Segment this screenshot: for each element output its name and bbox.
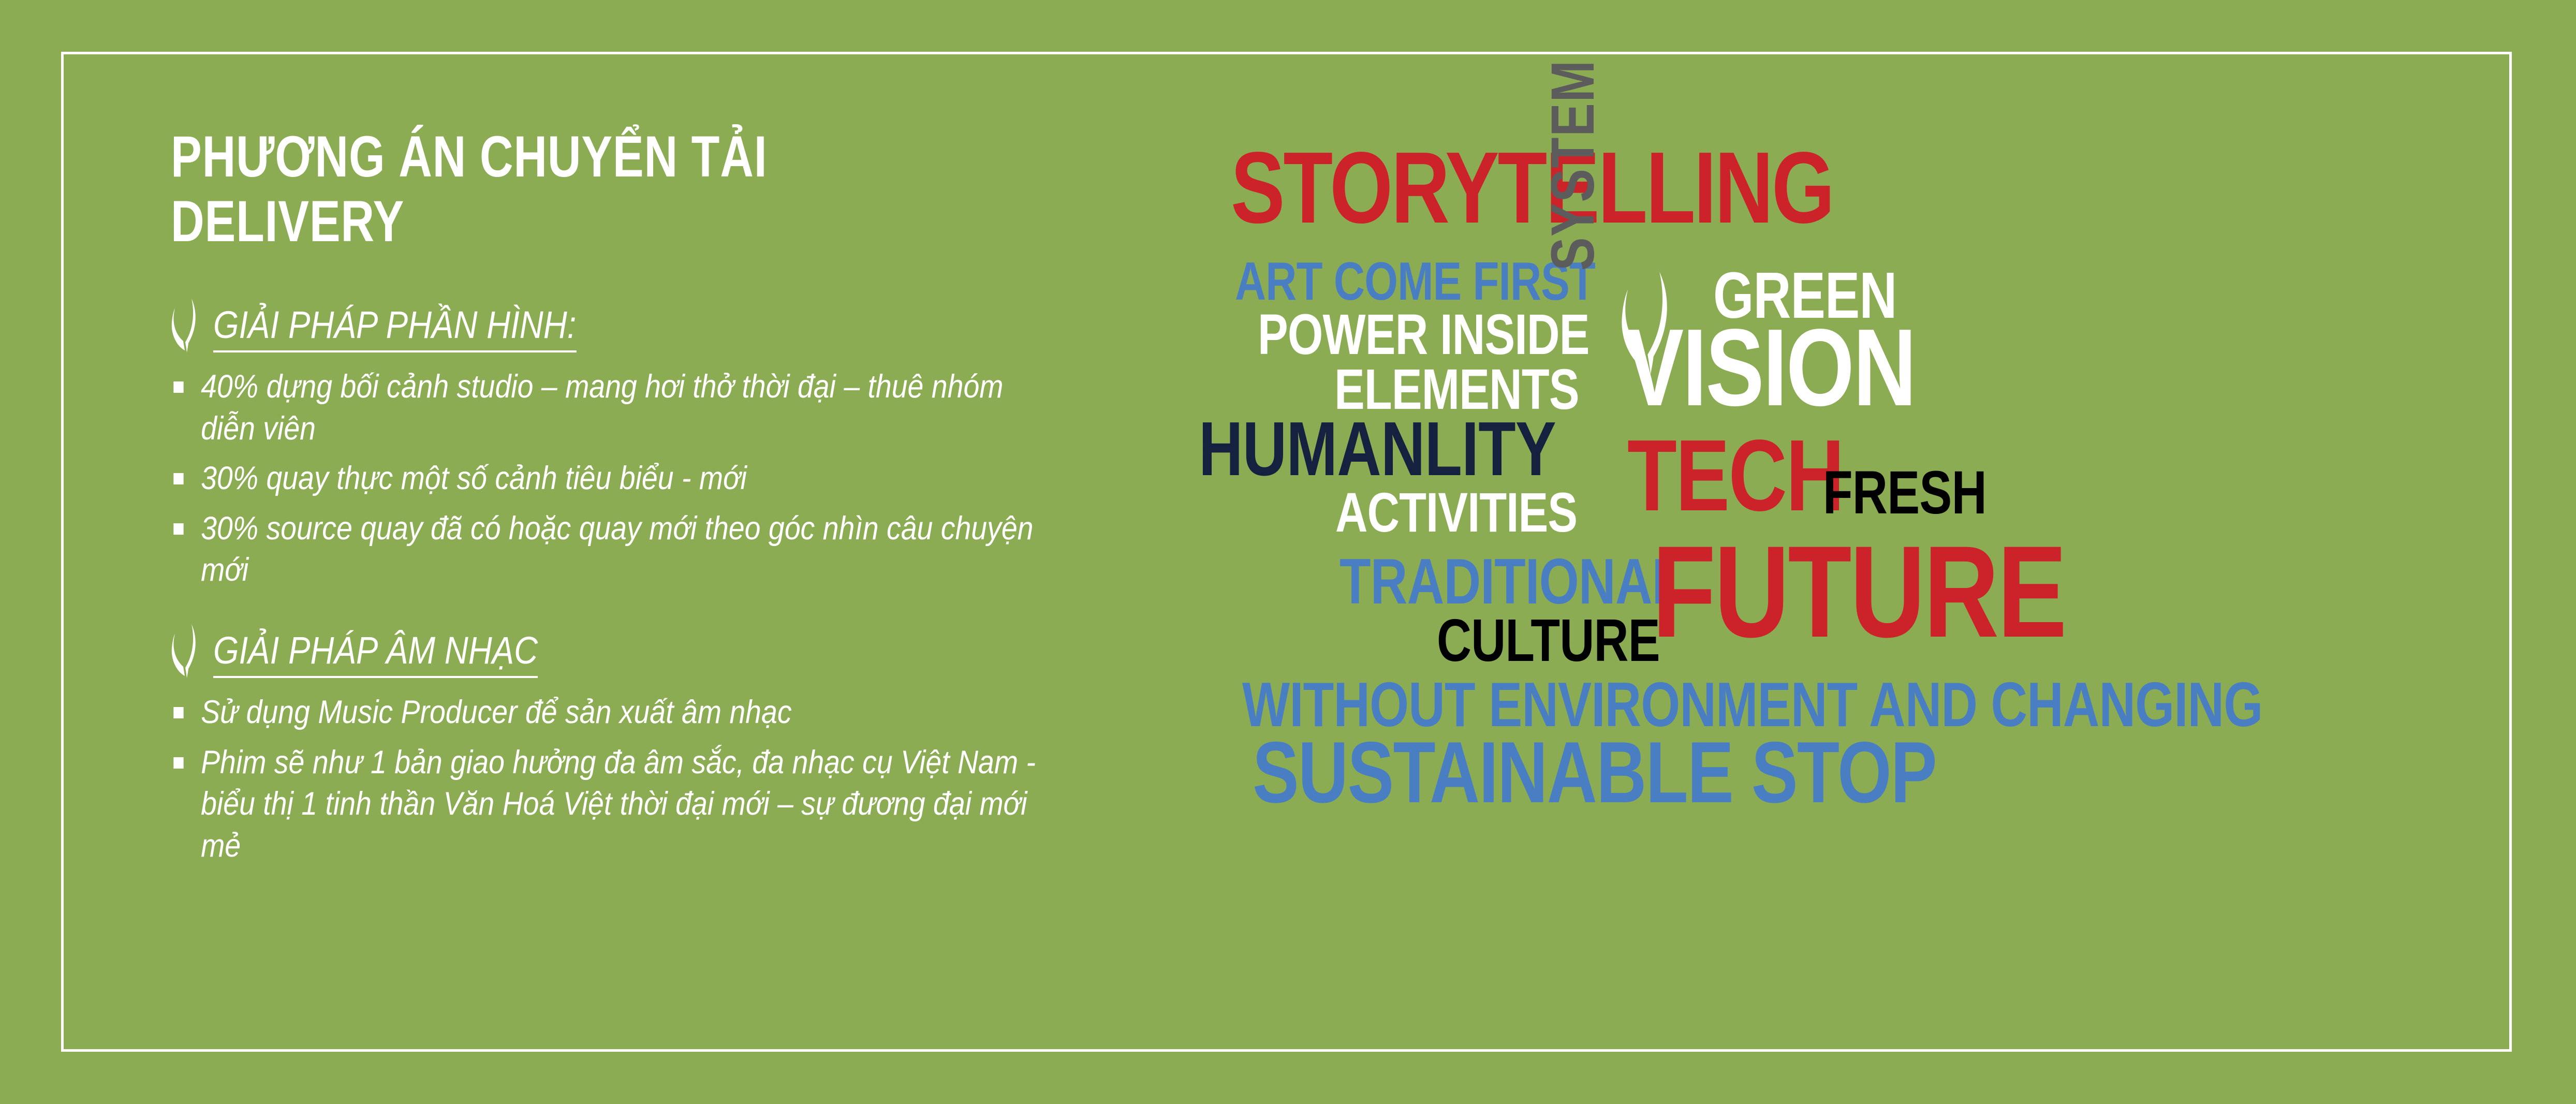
word-cloud-item-traditional: TRADITIONAL (1339, 556, 1683, 608)
list-item: 30% source quay đã có hoặc quay mới theo… (171, 508, 1059, 591)
word-cloud-item-humanlity: HUMANLITY (1199, 419, 1556, 480)
list-item: 40% dựng bối cảnh studio – mang hơi thở … (171, 366, 1059, 449)
leaf-sprout-icon (1620, 264, 1681, 381)
list-item: Phim sẽ như 1 bản giao hưởng đa âm sắc, … (171, 742, 1059, 867)
bullet-list-phan-hinh: 40% dựng bối cảnh studio – mang hơi thở … (171, 366, 1180, 591)
word-cloud-item-elements: ELEMENTS (1334, 367, 1579, 413)
bullet-list-am-nhac: Sử dụng Music Producer để sản xuất âm nh… (171, 691, 1180, 867)
section-heading-label: GIẢI PHÁP ÂM NHẠC (213, 631, 538, 678)
word-cloud: STORYTELLING ART COME FIRST POWER INSIDE… (1185, 148, 2438, 888)
word-cloud-item-tech: TECH (1627, 435, 1843, 517)
section-giai-phap-phan-hinh: GIẢI PHÁP PHẦN HÌNH: 40% dựng bối cảnh s… (171, 299, 1180, 591)
word-cloud-item-future: FUTURE (1652, 540, 2065, 644)
page-title: PHƯƠNG ÁN CHUYỂN TẢI DELIVERY (171, 124, 978, 254)
section-heading-row: GIẢI PHÁP PHẦN HÌNH: (171, 299, 1180, 352)
word-cloud-item-activities: ACTIVITIES (1335, 490, 1577, 535)
list-item: 30% quay thực một số cảnh tiêu biểu - mớ… (171, 458, 1059, 499)
section-heading-label: GIẢI PHÁP PHẦN HÌNH: (213, 306, 576, 352)
section-heading-row: GIẢI PHÁP ÂM NHẠC (171, 624, 1180, 678)
word-cloud-item-system: SYSTEM (1549, 60, 1597, 271)
word-cloud-item-storytelling: STORYTELLING (1231, 148, 1833, 229)
leaf-sprout-icon (171, 299, 203, 352)
left-content-column: PHƯƠNG ÁN CHUYỂN TẢI DELIVERY GIẢI PHÁP … (171, 124, 1180, 900)
list-item: Sử dụng Music Producer để sản xuất âm nh… (171, 691, 1059, 733)
section-giai-phap-am-nhac: GIẢI PHÁP ÂM NHẠC Sử dụng Music Producer… (171, 624, 1180, 867)
word-cloud-item-fresh: FRESH (1823, 468, 1986, 517)
leaf-sprout-icon (171, 624, 203, 678)
word-cloud-item-sustainable-stop: SUSTAINABLE STOP (1253, 738, 1936, 807)
word-cloud-item-culture: CULTURE (1437, 616, 1660, 665)
word-cloud-item-power-inside: POWER INSIDE (1258, 312, 1589, 358)
word-cloud-item-without-environment-and-changing: WITHOUT ENVIRONMENT AND CHANGING (1242, 680, 2262, 730)
